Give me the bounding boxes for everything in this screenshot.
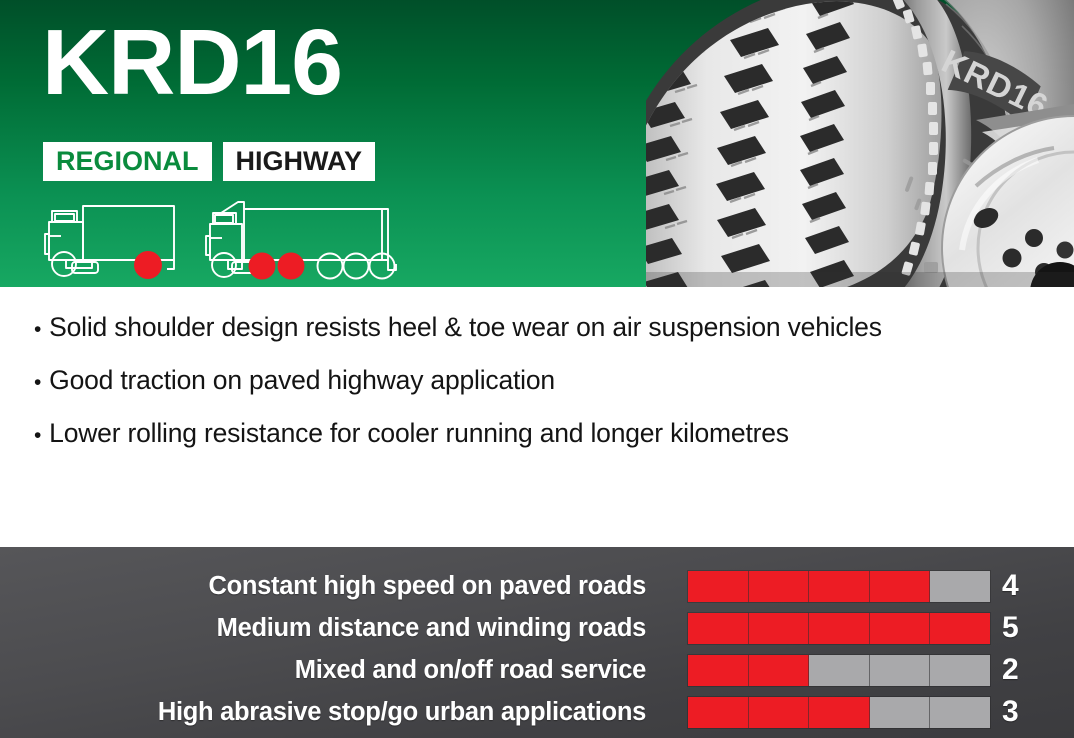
features-section: • Solid shoulder design resists heel & t… bbox=[0, 287, 1074, 547]
vehicle-application-icons bbox=[36, 198, 408, 285]
rating-segment bbox=[809, 697, 870, 728]
rating-segment bbox=[930, 655, 990, 686]
rating-segment bbox=[809, 571, 870, 602]
rating-segment bbox=[930, 697, 990, 728]
bullet-icon: • bbox=[34, 319, 41, 340]
rating-label: Medium distance and winding roads bbox=[0, 614, 646, 643]
rating-value: 2 bbox=[1002, 653, 1062, 687]
rating-segment bbox=[870, 697, 931, 728]
bullet-icon: • bbox=[34, 372, 41, 393]
rating-bar bbox=[688, 571, 990, 602]
rating-value: 4 bbox=[1002, 569, 1062, 603]
feature-text: Solid shoulder design resists heel & toe… bbox=[49, 312, 882, 343]
rating-segment bbox=[688, 571, 749, 602]
rating-label: Mixed and on/off road service bbox=[0, 656, 646, 685]
rating-segment bbox=[930, 571, 990, 602]
page-title: KRD16 bbox=[42, 14, 342, 112]
rating-value: 3 bbox=[1002, 695, 1062, 729]
table-row: Mixed and on/off road service 2 bbox=[0, 649, 1074, 691]
application-ratings-section: Constant high speed on paved roads 4 Med… bbox=[0, 547, 1074, 738]
table-row: Constant high speed on paved roads 4 bbox=[0, 565, 1074, 607]
tractor-trailer-truck-icon bbox=[198, 198, 408, 285]
rating-segment bbox=[688, 613, 749, 644]
list-item: • Lower rolling resistance for cooler ru… bbox=[34, 418, 1054, 449]
rating-segment bbox=[749, 613, 810, 644]
table-row: Medium distance and winding roads 5 bbox=[0, 607, 1074, 649]
rating-segment bbox=[688, 697, 749, 728]
table-row: High abrasive stop/go urban applications… bbox=[0, 691, 1074, 733]
rating-segment bbox=[930, 613, 990, 644]
header-left-column: KRD16 REGIONAL HIGHWAY bbox=[0, 0, 700, 287]
rating-bar bbox=[688, 613, 990, 644]
rating-label: Constant high speed on paved roads bbox=[0, 572, 646, 601]
rating-bar bbox=[688, 697, 990, 728]
badge-highway: HIGHWAY bbox=[223, 142, 376, 181]
category-badges: REGIONAL HIGHWAY bbox=[43, 142, 375, 181]
rating-segment bbox=[749, 571, 810, 602]
rating-segment bbox=[809, 655, 870, 686]
rating-segment bbox=[688, 655, 749, 686]
rigid-box-truck-icon bbox=[36, 198, 184, 285]
rating-bar bbox=[688, 655, 990, 686]
badge-regional: REGIONAL bbox=[43, 142, 212, 181]
rating-segment bbox=[749, 655, 810, 686]
rating-segment bbox=[870, 655, 931, 686]
feature-text: Good traction on paved highway applicati… bbox=[49, 365, 555, 396]
feature-bullet-list: • Solid shoulder design resists heel & t… bbox=[34, 312, 1054, 471]
bullet-icon: • bbox=[34, 425, 41, 446]
feature-text: Lower rolling resistance for cooler runn… bbox=[49, 418, 789, 449]
rating-value: 5 bbox=[1002, 611, 1062, 645]
product-header-banner: KRD16 REGIONAL HIGHWAY bbox=[0, 0, 1074, 287]
rating-label: High abrasive stop/go urban applications bbox=[0, 698, 646, 727]
rating-segment bbox=[870, 571, 931, 602]
tire-product-image: KRD16 bbox=[646, 0, 1074, 287]
rating-segment bbox=[809, 613, 870, 644]
list-item: • Good traction on paved highway applica… bbox=[34, 365, 1054, 396]
rating-segment bbox=[749, 697, 810, 728]
list-item: • Solid shoulder design resists heel & t… bbox=[34, 312, 1054, 343]
rating-segment bbox=[870, 613, 931, 644]
